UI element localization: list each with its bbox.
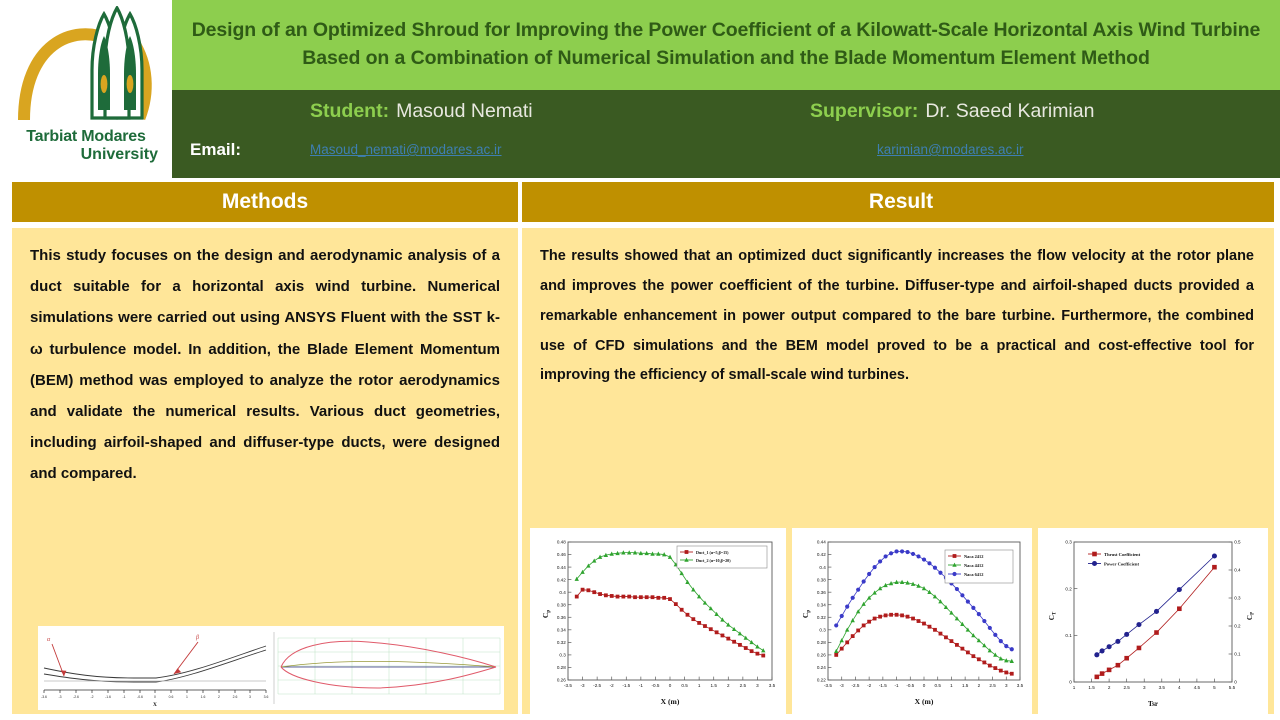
data-point: [610, 594, 614, 598]
svg-text:3.6: 3.6: [264, 695, 269, 699]
data-point: [686, 613, 690, 617]
data-point: [867, 620, 871, 624]
svg-text:0.38: 0.38: [557, 602, 566, 607]
data-point: [1124, 632, 1129, 637]
data-point: [878, 559, 882, 563]
right-margin: [1274, 182, 1280, 720]
legend-label: Power Coefficient: [1104, 561, 1139, 566]
data-point: [656, 596, 660, 600]
data-point: [977, 657, 981, 661]
svg-text:-0.5: -0.5: [906, 683, 914, 688]
data-point: [575, 595, 579, 599]
data-point: [873, 617, 877, 621]
data-point: [1177, 587, 1182, 592]
data-point: [856, 588, 860, 592]
svg-text:3: 3: [249, 695, 251, 699]
chart-cp-vs-x-ducts: 0.260.280.30.320.340.360.380.40.420.440.…: [530, 528, 786, 716]
data-point: [873, 565, 877, 569]
svg-text:0.5: 0.5: [1234, 540, 1241, 545]
data-point: [1116, 663, 1121, 668]
svg-text:0.22: 0.22: [817, 678, 826, 683]
data-point: [966, 651, 970, 655]
data-point: [685, 550, 689, 554]
data-point: [639, 595, 643, 599]
svg-text:0.34: 0.34: [817, 602, 826, 607]
svg-text:2.5: 2.5: [740, 683, 747, 688]
data-point: [840, 647, 844, 651]
data-point: [834, 653, 838, 657]
data-point: [889, 551, 893, 555]
data-point: [1010, 672, 1014, 676]
data-point: [895, 613, 899, 617]
svg-text:0.28: 0.28: [557, 665, 566, 670]
data-point: [1212, 565, 1217, 570]
data-point: [633, 595, 637, 599]
svg-text:0.34: 0.34: [557, 628, 566, 633]
svg-text:0.26: 0.26: [817, 653, 826, 658]
svg-text:0.6: 0.6: [169, 695, 174, 699]
data-point: [645, 595, 649, 599]
data-point: [1154, 630, 1159, 635]
chart-cp-vs-x-ducts-svg: 0.260.280.30.320.340.360.380.40.420.440.…: [530, 528, 786, 716]
data-point: [988, 664, 992, 668]
svg-text:0.2: 0.2: [1065, 586, 1072, 591]
data-point: [651, 595, 655, 599]
svg-text:5: 5: [1213, 685, 1216, 690]
chart-coefficients-vs-tsr-svg: 00.10.20.3 00.10.20.30.40.5 11.522.533.5…: [1038, 528, 1268, 716]
data-point: [662, 596, 666, 600]
data-point: [587, 588, 591, 592]
result-body-text: The results showed that an optimized duc…: [540, 242, 1254, 391]
svg-text:2: 2: [727, 683, 730, 688]
data-point: [1095, 675, 1100, 680]
chart-cp-vs-x-naca: 0.220.240.260.280.30.320.340.360.380.40.…: [792, 528, 1032, 716]
data-point: [750, 649, 754, 653]
data-point: [721, 634, 725, 638]
data-point: [960, 593, 964, 597]
data-point: [703, 624, 707, 628]
svg-text:0.2: 0.2: [1234, 624, 1241, 629]
svg-text:0: 0: [923, 683, 926, 688]
data-point: [911, 617, 915, 621]
tarbiat-modares-logo-icon: [14, 6, 162, 124]
svg-text:3.5: 3.5: [1159, 685, 1166, 690]
legend-label: Naca 4412: [964, 563, 983, 568]
result-panel: The results showed that an optimized duc…: [522, 228, 1274, 720]
data-point: [884, 554, 888, 558]
svg-text:1: 1: [950, 683, 953, 688]
data-point: [933, 566, 937, 570]
methods-header-label: Methods: [222, 190, 308, 214]
svg-text:-2.6: -2.6: [73, 695, 79, 699]
svg-text:0.36: 0.36: [557, 615, 566, 620]
supervisor-block: Supervisor: Dr. Saeed Karimian: [810, 100, 1094, 123]
svg-text:-2.5: -2.5: [851, 683, 859, 688]
data-point: [900, 549, 904, 553]
result-header: Result: [522, 182, 1280, 222]
student-block: Student: Masoud Nemati: [310, 100, 533, 123]
data-point: [1092, 561, 1097, 566]
svg-text:1: 1: [186, 695, 188, 699]
svg-text:0.38: 0.38: [817, 577, 826, 582]
methods-header: Methods: [12, 182, 518, 222]
section-headers: Methods Result: [0, 182, 1280, 222]
svg-text:-3: -3: [840, 683, 845, 688]
data-point: [862, 579, 866, 583]
svg-text:0.5: 0.5: [681, 683, 688, 688]
data-point: [993, 633, 997, 637]
svg-text:2: 2: [218, 695, 220, 699]
data-point: [592, 590, 596, 594]
student-label: Student:: [310, 100, 389, 123]
svg-text:0.3: 0.3: [819, 628, 826, 633]
authors-emails-row: Email: Masoud_nemati@modares.ac.ir karim…: [172, 136, 1280, 170]
svg-text:-2: -2: [867, 683, 872, 688]
data-point: [732, 640, 736, 644]
data-point: [756, 652, 760, 656]
chart-cp-vs-x-naca-svg: 0.220.240.260.280.30.320.340.360.380.40.…: [792, 528, 1032, 716]
svg-text:4.5: 4.5: [1194, 685, 1201, 690]
data-point: [1124, 656, 1129, 661]
poster-root: Tarbiat Modares University Design of an …: [0, 0, 1280, 720]
svg-text:0.32: 0.32: [557, 640, 566, 645]
data-point: [616, 595, 620, 599]
data-point: [971, 606, 975, 610]
svg-text:1.5: 1.5: [711, 683, 718, 688]
data-point: [738, 643, 742, 647]
svg-text:3.5: 3.5: [769, 683, 776, 688]
data-point: [709, 627, 713, 631]
svg-text:2.5: 2.5: [989, 683, 996, 688]
data-point: [952, 572, 956, 576]
svg-text:0: 0: [1234, 680, 1237, 685]
data-point: [900, 613, 904, 617]
data-point: [878, 615, 882, 619]
data-point: [621, 595, 625, 599]
data-point: [1136, 622, 1141, 627]
data-point: [744, 646, 748, 650]
poster-title: Design of an Optimized Shroud for Improv…: [172, 17, 1280, 72]
data-point: [697, 621, 701, 625]
data-point: [911, 552, 915, 556]
methods-panel: This study focuses on the design and aer…: [12, 228, 518, 720]
data-point: [845, 640, 849, 644]
svg-text:-3: -3: [58, 695, 61, 699]
data-point: [691, 617, 695, 621]
svg-text:0.36: 0.36: [817, 590, 826, 595]
data-point: [851, 634, 855, 638]
data-point: [1094, 652, 1099, 657]
left-margin: [0, 182, 12, 720]
data-point: [598, 592, 602, 596]
svg-text:0.44: 0.44: [817, 540, 826, 545]
logo-wordmark: Tarbiat Modares University: [6, 128, 166, 164]
svg-text:2: 2: [1108, 685, 1111, 690]
legend-label: Naca 6412: [964, 572, 983, 577]
svg-text:5.5: 5.5: [1229, 685, 1236, 690]
data-point: [993, 666, 997, 670]
data-point: [884, 613, 888, 617]
svg-text:-1: -1: [639, 683, 644, 688]
data-point: [862, 624, 866, 628]
authors-banner: Student: Masoud Nemati Supervisor: Dr. S…: [172, 90, 1280, 178]
svg-text:0.42: 0.42: [817, 552, 826, 557]
data-point: [604, 593, 608, 597]
data-point: [1010, 647, 1014, 651]
poster-body: This study focuses on the design and aer…: [0, 222, 1280, 720]
svg-text:3.5: 3.5: [1017, 683, 1024, 688]
data-point: [961, 647, 965, 651]
methods-body-text: This study focuses on the design and aer…: [30, 240, 500, 490]
data-point: [927, 561, 931, 565]
data-point: [982, 619, 986, 623]
legend-label: Naca 2412: [964, 554, 983, 559]
svg-text:2: 2: [978, 683, 981, 688]
svg-text:1: 1: [1073, 685, 1076, 690]
svg-text:-1.5: -1.5: [622, 683, 630, 688]
data-point: [988, 626, 992, 630]
svg-text:0.1: 0.1: [1234, 652, 1241, 657]
svg-text:-3.5: -3.5: [824, 683, 832, 688]
bottom-margin: [0, 714, 1280, 720]
data-point: [1100, 671, 1105, 676]
svg-text:0.4: 0.4: [1234, 568, 1241, 573]
result-header-label: Result: [869, 190, 933, 214]
svg-text:0.28: 0.28: [817, 640, 826, 645]
logo-name-line2: University: [6, 146, 166, 164]
svg-text:β: β: [195, 635, 199, 641]
data-point: [1137, 646, 1142, 651]
svg-text:3: 3: [1005, 683, 1008, 688]
data-point: [845, 605, 849, 609]
data-point: [966, 600, 970, 604]
data-point: [999, 669, 1003, 673]
svg-text:-1.6: -1.6: [105, 695, 111, 699]
svg-text:-2: -2: [90, 695, 93, 699]
data-point: [680, 608, 684, 612]
data-point: [999, 639, 1003, 643]
supervisor-email-link[interactable]: karimian@modares.ac.ir: [877, 142, 1024, 157]
svg-text:-3.6: -3.6: [41, 695, 47, 699]
data-point: [1212, 553, 1217, 558]
svg-text:-3: -3: [581, 683, 586, 688]
title-banner: Design of an Optimized Shroud for Improv…: [172, 0, 1280, 90]
data-point: [955, 643, 959, 647]
data-point: [1154, 609, 1159, 614]
svg-text:-0.6: -0.6: [137, 695, 143, 699]
data-point: [955, 587, 959, 591]
svg-text:0: 0: [154, 695, 156, 699]
svg-text:3: 3: [1143, 685, 1146, 690]
svg-text:-1: -1: [895, 683, 900, 688]
data-point: [971, 654, 975, 658]
svg-text:0.26: 0.26: [557, 678, 566, 683]
svg-text:0.32: 0.32: [817, 615, 826, 620]
data-point: [917, 619, 921, 623]
legend-label: Duct_2 (α=10,β=20): [696, 558, 731, 563]
data-point: [851, 596, 855, 600]
svg-text:0.3: 0.3: [1234, 596, 1241, 601]
university-logo: Tarbiat Modares University: [0, 0, 172, 178]
data-point: [581, 588, 585, 592]
data-point: [834, 623, 838, 627]
data-point: [627, 595, 631, 599]
svg-text:0.42: 0.42: [557, 577, 566, 582]
legend-label: Thrust Coefficient: [1104, 552, 1141, 557]
svg-text:-3.5: -3.5: [564, 683, 572, 688]
supervisor-label: Supervisor:: [810, 100, 918, 123]
chart2-xlabel: X (m): [915, 697, 934, 706]
data-point: [1107, 668, 1112, 673]
data-point: [905, 550, 909, 554]
svg-text:1.5: 1.5: [962, 683, 969, 688]
data-point: [928, 625, 932, 629]
svg-text:0.5: 0.5: [935, 683, 942, 688]
data-point: [938, 571, 942, 575]
svg-text:X: X: [153, 702, 157, 708]
svg-text:0: 0: [1069, 680, 1072, 685]
data-point: [916, 554, 920, 558]
authors-names-row: Student: Masoud Nemati Supervisor: Dr. S…: [172, 98, 1280, 134]
data-point: [1177, 606, 1182, 611]
svg-text:0.46: 0.46: [557, 552, 566, 557]
logo-name-line1: Tarbiat Modares: [6, 128, 166, 146]
data-point: [889, 613, 893, 617]
data-point: [867, 572, 871, 576]
chart3-xlabel: Tsr: [1148, 700, 1159, 708]
data-point: [1100, 648, 1105, 653]
data-point: [1092, 552, 1097, 557]
legend-label: Duct_1 (α=5,β=15): [696, 550, 729, 555]
svg-text:0.48: 0.48: [557, 540, 566, 545]
data-point: [939, 632, 943, 636]
svg-text:1.5: 1.5: [1088, 685, 1095, 690]
svg-text:2.6: 2.6: [233, 695, 238, 699]
svg-text:0.4: 0.4: [819, 565, 826, 570]
student-name: Masoud Nemati: [396, 100, 533, 123]
data-point: [715, 630, 719, 634]
svg-text:1.6: 1.6: [201, 695, 206, 699]
result-charts-row: 0.260.280.30.320.340.360.380.40.420.440.…: [530, 528, 1266, 716]
poster-header: Tarbiat Modares University Design of an …: [0, 0, 1280, 182]
duct-geometry-and-airfoil-figure: α β: [38, 626, 504, 710]
svg-text:0: 0: [669, 683, 672, 688]
svg-text:0.3: 0.3: [1065, 540, 1072, 545]
svg-text:4: 4: [1178, 685, 1181, 690]
data-point: [840, 614, 844, 618]
duct-geometry-svg: α β: [38, 626, 504, 710]
data-point: [950, 639, 954, 643]
data-point: [856, 629, 860, 633]
svg-text:-2.5: -2.5: [593, 683, 601, 688]
data-point: [894, 549, 898, 553]
svg-text:0.24: 0.24: [817, 665, 826, 670]
data-point: [977, 612, 981, 616]
data-point: [761, 654, 765, 658]
svg-text:0.44: 0.44: [557, 565, 566, 570]
data-point: [906, 615, 910, 619]
data-point: [922, 622, 926, 626]
data-point: [1107, 644, 1112, 649]
data-point: [953, 554, 957, 558]
chart-coefficients-vs-tsr: 00.10.20.3 00.10.20.30.40.5 11.522.533.5…: [1038, 528, 1268, 716]
svg-text:-2: -2: [610, 683, 615, 688]
data-point: [1004, 671, 1008, 675]
chart1-xlabel: X (m): [661, 697, 680, 706]
svg-text:0.4: 0.4: [559, 590, 566, 595]
data-point: [944, 635, 948, 639]
email-label: Email:: [190, 140, 241, 160]
svg-text:2.5: 2.5: [1123, 685, 1130, 690]
svg-text:0.1: 0.1: [1065, 633, 1072, 638]
data-point: [933, 628, 937, 632]
svg-text:-0.5: -0.5: [651, 683, 659, 688]
svg-text:1: 1: [698, 683, 701, 688]
supervisor-name: Dr. Saeed Karimian: [925, 100, 1094, 123]
data-point: [922, 557, 926, 561]
data-point: [668, 597, 672, 601]
data-point: [674, 602, 678, 606]
svg-text:-1: -1: [122, 695, 125, 699]
data-point: [1115, 639, 1120, 644]
data-point: [1004, 644, 1008, 648]
svg-text:3: 3: [756, 683, 759, 688]
svg-text:-1.5: -1.5: [879, 683, 887, 688]
svg-text:0.3: 0.3: [559, 653, 566, 658]
data-point: [726, 637, 730, 641]
student-email-link[interactable]: Masoud_nemati@modares.ac.ir: [310, 142, 502, 157]
data-point: [982, 661, 986, 665]
